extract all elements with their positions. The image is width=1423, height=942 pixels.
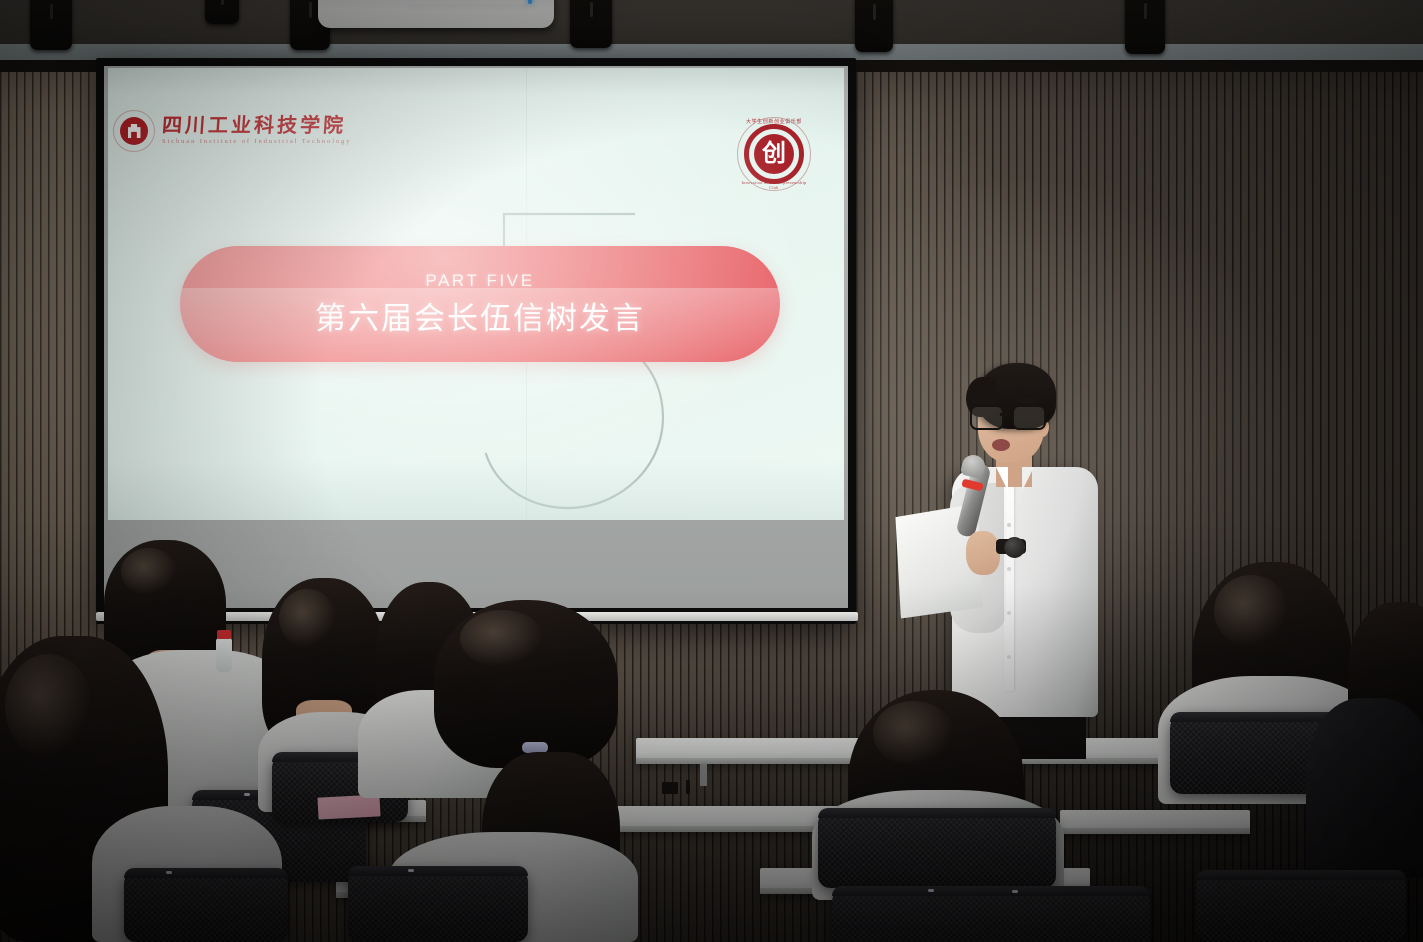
- slide-title: 第六届会长伍信树发言: [315, 293, 645, 338]
- ceiling-projector: PROJECTOR: [318, 0, 554, 28]
- chair-rim: [124, 868, 288, 878]
- speaker-eyebrow: [1016, 399, 1038, 403]
- slide-bottom-fade: [108, 460, 844, 520]
- chair-highlight: [244, 793, 250, 796]
- audience-torso-dark: [1306, 698, 1423, 878]
- banner-text-block: PART FIVE 第六届会长伍信树发言: [180, 246, 780, 362]
- university-name-en: Sichuan Institute of Industrial Technolo…: [162, 139, 351, 146]
- projected-slide: 四川工业科技学院 Sichuan Institute of Industrial…: [108, 68, 844, 520]
- shirt-button-icon: [1007, 655, 1011, 659]
- chair-highlight: [1012, 890, 1018, 893]
- seal-disc-icon: [120, 117, 148, 145]
- university-name-block: 四川工业科技学院 Sichuan Institute of Industrial…: [162, 116, 351, 146]
- university-name-cn: 四川工业科技学院: [161, 116, 352, 136]
- pink-paper-sheet: [317, 794, 380, 819]
- spotlight-icon: [855, 0, 893, 52]
- chair: [818, 808, 1056, 888]
- club-logo: 大学生创新创业俱乐部 Innovation and Entrepreneursh…: [737, 117, 811, 191]
- projector-vent: [408, 4, 528, 11]
- wristwatch-icon: [1004, 537, 1025, 558]
- hair-highlight: [121, 548, 177, 595]
- presentation-photo: PROJECTOR 四川工业科技学院 Sichuan Institute of …: [0, 0, 1423, 942]
- desk-edge: [636, 758, 884, 764]
- seal-glyph-icon: [128, 124, 141, 138]
- chair-highlight: [408, 869, 414, 872]
- slide-part-label: PART FIVE: [425, 271, 534, 291]
- glasses-icon: [970, 405, 1046, 427]
- chair-highlight: [166, 871, 172, 874]
- shirt-button-icon: [1007, 611, 1011, 615]
- desk-edge: [1060, 828, 1250, 834]
- spotlight-icon: [205, 0, 239, 24]
- hair-highlight: [5, 654, 92, 758]
- club-character: 创: [762, 142, 786, 166]
- spotlight-icon: [1125, 0, 1165, 54]
- chair: [832, 886, 1150, 942]
- chair: [348, 866, 528, 942]
- speaker-shirt-placket: [1004, 485, 1014, 691]
- university-seal-icon: [113, 110, 155, 152]
- glasses-lens-right: [1012, 405, 1046, 430]
- university-logo: 四川工业科技学院 Sichuan Institute of Industrial…: [113, 110, 351, 152]
- slide-title-banner: PART FIVE 第六届会长伍信树发言: [180, 246, 780, 362]
- speaker-mouth: [992, 439, 1010, 451]
- speaker-collar-right: [1022, 467, 1044, 491]
- speaker-hand: [966, 531, 1000, 575]
- chair-rim: [832, 886, 1150, 896]
- desk: [636, 738, 884, 764]
- speaker-eyebrow: [972, 399, 994, 403]
- hair-highlight: [873, 701, 954, 766]
- shirt-button-icon: [1007, 523, 1011, 527]
- hair-highlight: [1214, 575, 1288, 647]
- chair-rim: [1196, 870, 1406, 880]
- desk-leg: [700, 764, 707, 786]
- spotlight-icon: [570, 0, 612, 48]
- chair-rim: [818, 808, 1056, 818]
- chair-rim: [348, 866, 528, 876]
- desk-object: [662, 782, 678, 794]
- bottle-cap-icon: [217, 630, 231, 639]
- shirt-button-icon: [1007, 567, 1011, 571]
- chair: [124, 868, 288, 942]
- desk: [1060, 810, 1250, 834]
- projector-label: PROJECTOR: [422, 0, 450, 1]
- chair: [1196, 870, 1406, 942]
- chair-highlight: [928, 889, 934, 892]
- glasses-lens-left: [970, 405, 1004, 430]
- hair-highlight: [460, 610, 545, 667]
- projector-led-icon: [528, 0, 532, 4]
- spotlight-icon: [30, 0, 72, 50]
- desk-object: [686, 780, 690, 794]
- club-core-icon: 创: [754, 134, 794, 174]
- water-bottle: [216, 638, 232, 672]
